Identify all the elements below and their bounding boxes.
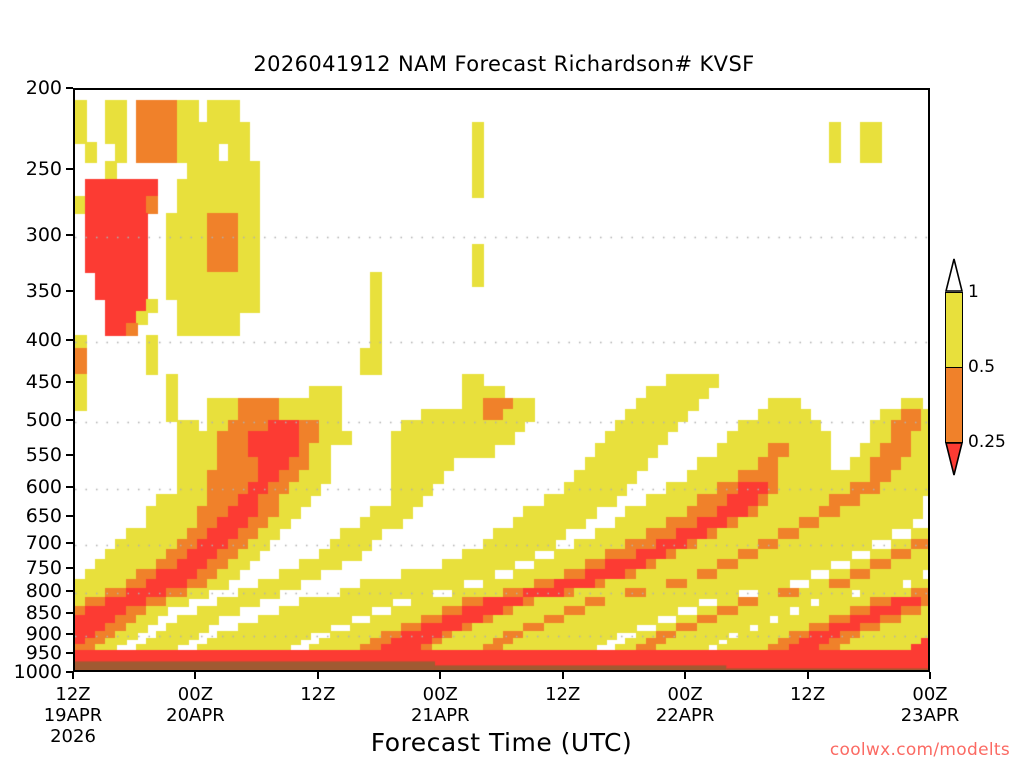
plot-area (73, 88, 930, 672)
y-tick-label: 200 (0, 77, 62, 99)
x-tick-mark (684, 672, 686, 679)
y-tick-label: 500 (0, 409, 62, 431)
y-tick-mark (66, 542, 73, 544)
colorbar (945, 292, 963, 442)
chart-title: 2026041912 NAM Forecast Richardson# KVSF (0, 52, 1024, 76)
y-tick-label: 1000 (0, 661, 62, 683)
colorbar-label-0.5: 0.5 (968, 357, 995, 377)
y-tick-label: 550 (0, 444, 62, 466)
y-tick-mark (66, 87, 73, 89)
x-tick-time: 12Z (790, 684, 825, 705)
y-tick-mark (66, 419, 73, 421)
x-tick-time: 00Z (423, 684, 458, 705)
x-tick-mark (929, 672, 931, 679)
colorbar-tick-line (945, 292, 963, 293)
x-tick-label: 00Z20APR (166, 684, 225, 726)
y-tick-label: 700 (0, 532, 62, 554)
x-tick-time: 00Z (668, 684, 703, 705)
colorbar-segment-0.25-0.5 (945, 367, 963, 442)
y-tick-mark (66, 633, 73, 635)
x-tick-date: 21APR (411, 705, 470, 726)
y-tick-label: 450 (0, 371, 62, 393)
colorbar-arrow-above-max (945, 258, 963, 292)
x-tick-label: 00Z21APR (411, 684, 470, 726)
y-tick-mark (66, 652, 73, 654)
richardson-heatmap (75, 90, 930, 672)
y-tick-mark (66, 234, 73, 236)
y-tick-mark (66, 612, 73, 614)
x-tick-time: 12Z (300, 684, 335, 705)
y-tick-mark (66, 339, 73, 341)
x-tick-mark (439, 672, 441, 679)
x-tick-time: 00Z (912, 684, 947, 705)
y-tick-mark (66, 567, 73, 569)
x-tick-time: 12Z (55, 684, 90, 705)
y-tick-mark (66, 290, 73, 292)
x-tick-label: 00Z22APR (656, 684, 715, 726)
x-tick-mark (562, 672, 564, 679)
colorbar-segment-0.5-1 (945, 292, 963, 367)
y-tick-mark (66, 590, 73, 592)
x-tick-label: 12Z (545, 684, 580, 705)
x-tick-time: 00Z (178, 684, 213, 705)
y-tick-mark (66, 515, 73, 517)
x-tick-date: 23APR (901, 705, 960, 726)
x-tick-mark (194, 672, 196, 679)
x-tick-date: 19APR (44, 705, 103, 726)
x-tick-label: 12Z (790, 684, 825, 705)
x-axis-title: Forecast Time (UTC) (73, 728, 930, 757)
x-tick-mark (317, 672, 319, 679)
y-tick-label: 800 (0, 580, 62, 602)
watermark-credit: coolwx.com/modelts (830, 740, 1010, 760)
colorbar-label-0.25: 0.25 (968, 432, 1006, 452)
x-tick-label: 00Z23APR (901, 684, 960, 726)
x-tick-label: 12Z (300, 684, 335, 705)
y-tick-mark (66, 381, 73, 383)
y-tick-label: 850 (0, 602, 62, 624)
y-tick-label: 750 (0, 557, 62, 579)
y-tick-label: 250 (0, 158, 62, 180)
y-tick-mark (66, 454, 73, 456)
x-tick-mark (72, 672, 74, 679)
x-tick-time: 12Z (545, 684, 580, 705)
y-tick-label: 400 (0, 329, 62, 351)
y-tick-mark (66, 486, 73, 488)
colorbar-tick-line (945, 367, 963, 368)
x-tick-mark (807, 672, 809, 679)
y-tick-mark (66, 168, 73, 170)
y-tick-label: 350 (0, 280, 62, 302)
y-tick-label: 300 (0, 224, 62, 246)
x-tick-date: 20APR (166, 705, 225, 726)
colorbar-arrow-below-min (945, 442, 963, 476)
colorbar-label-1: 1 (968, 282, 979, 302)
x-tick-date: 22APR (656, 705, 715, 726)
y-tick-label: 650 (0, 505, 62, 527)
y-tick-label: 600 (0, 476, 62, 498)
